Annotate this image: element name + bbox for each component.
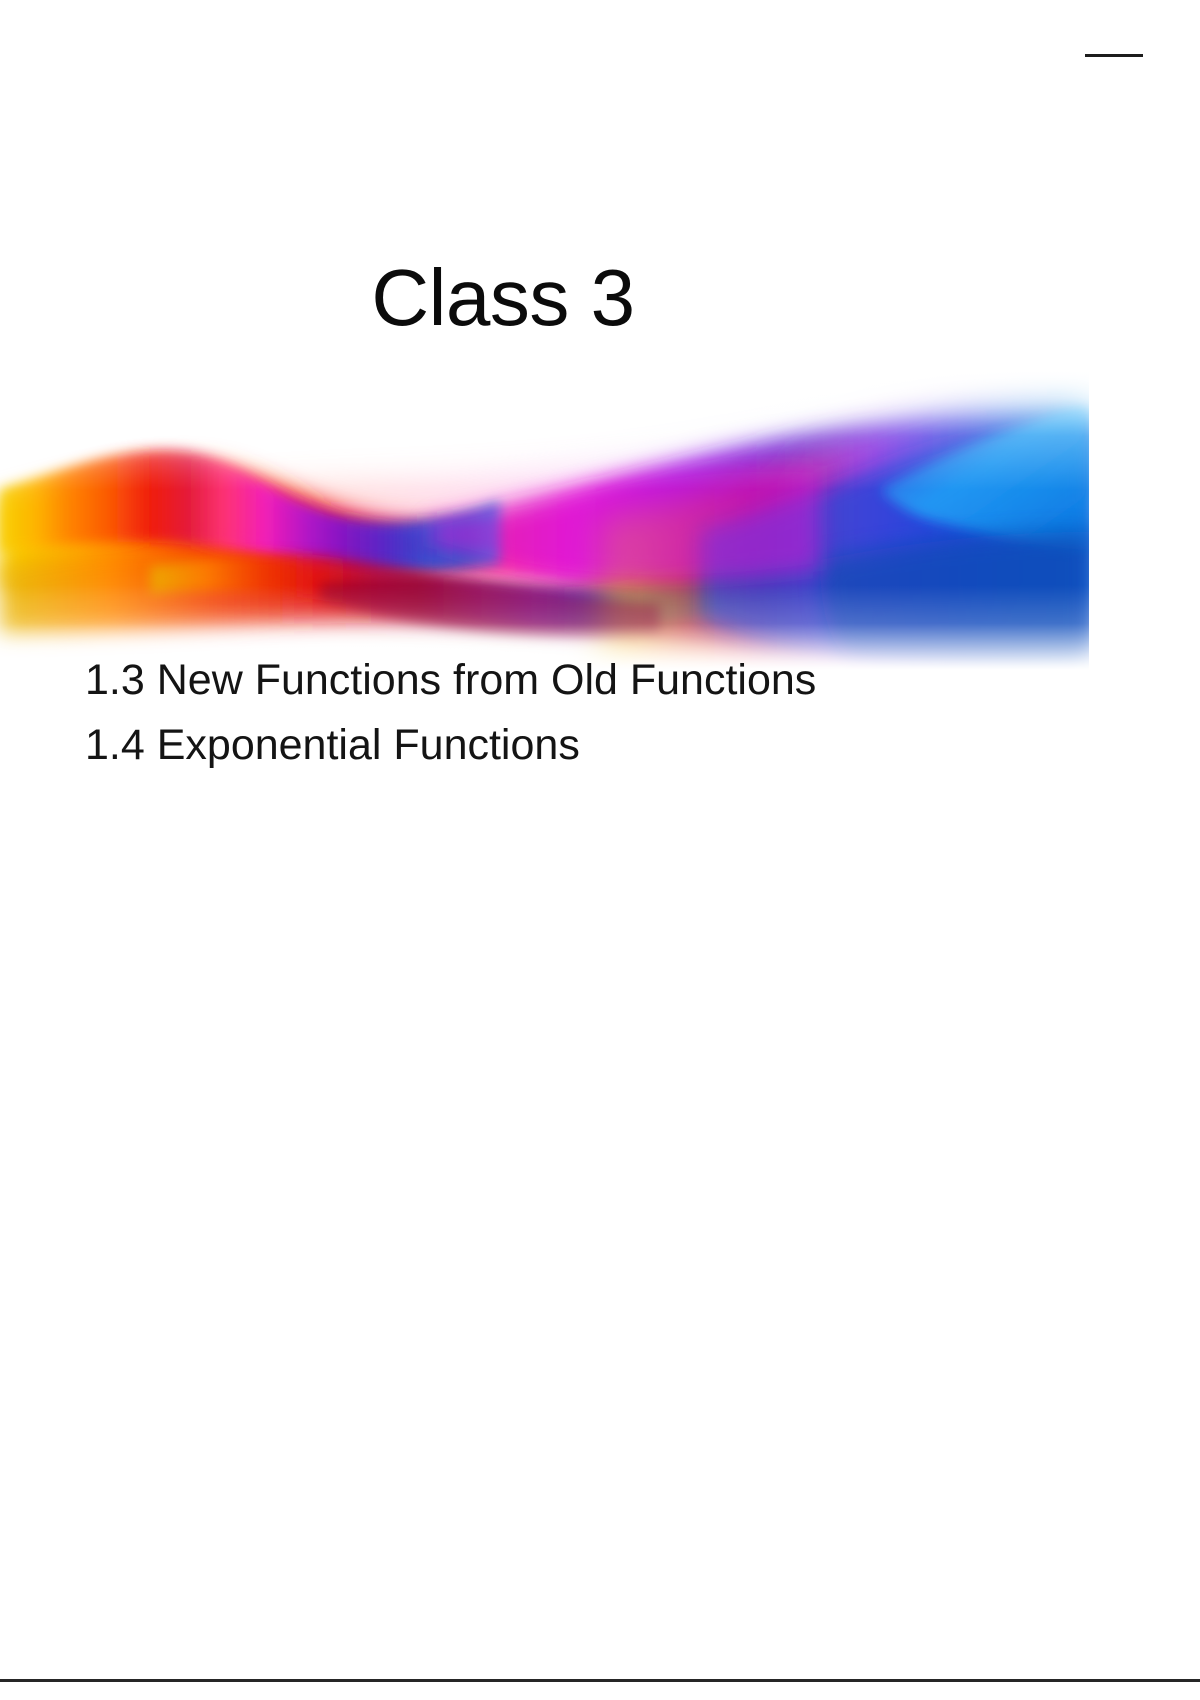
slide-title: Class 3 xyxy=(0,258,1006,338)
slide-page: Class 3 1.3 New Functions from Old Funct… xyxy=(0,0,1200,1700)
body-line-1: 1.3 New Functions from Old Functions xyxy=(85,648,985,713)
body-line-2: 1.4 Exponential Functions xyxy=(85,713,985,778)
footer-rule xyxy=(0,1679,1200,1682)
slide-body: 1.3 New Functions from Old Functions 1.4… xyxy=(85,648,985,777)
rainbow-swoosh-graphic xyxy=(0,370,1089,670)
header-rule xyxy=(1085,54,1143,57)
